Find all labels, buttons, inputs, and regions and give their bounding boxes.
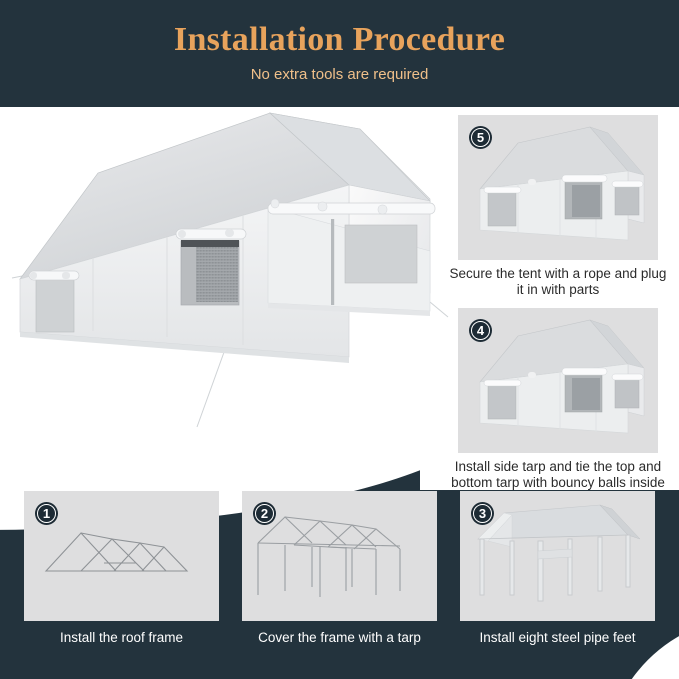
step-2-badge: 2	[253, 502, 276, 525]
step-card-5: 5 Secure the tent with a rope and p	[458, 115, 668, 298]
step-card-4: 4 Install side tarp and tie the top	[458, 308, 668, 491]
page-title: Installation Procedure	[0, 20, 679, 60]
window-left	[29, 271, 79, 332]
step-1-badge: 1	[35, 502, 58, 525]
bay-center-post	[331, 219, 334, 305]
step-card-2: 2	[242, 491, 437, 646]
installation-procedure-infographic: Installation Procedure No extra tools ar…	[0, 0, 679, 679]
step-1-caption: Install the roof frame	[24, 630, 219, 646]
step-4-badge: 4	[469, 319, 492, 342]
page-subtitle: No extra tools are required	[0, 65, 679, 85]
step-card-3: 3 Install eight steel pipe feet	[460, 491, 655, 646]
step-card-1: 1 Install the roof frame	[24, 491, 219, 646]
step-2-image: 2	[242, 491, 437, 621]
step-3-image: 3	[460, 491, 655, 621]
guy-rope-far	[430, 302, 448, 317]
step-5-badge: 5	[469, 126, 492, 149]
step-5-image: 5	[458, 115, 658, 260]
hero-product-image	[0, 107, 452, 467]
step-4-image: 4	[458, 308, 658, 453]
step-3-badge: 3	[471, 502, 494, 525]
step-2-caption: Cover the frame with a tarp	[242, 630, 437, 646]
window-rear	[345, 225, 417, 283]
step-4-caption: Install side tarp and tie the top and bo…	[448, 459, 668, 491]
step-3-caption: Install eight steel pipe feet	[460, 630, 655, 646]
header-band: Installation Procedure No extra tools ar…	[0, 0, 679, 107]
window-center-mesh	[176, 229, 246, 305]
step-1-image: 1	[24, 491, 219, 621]
step-5-caption: Secure the tent with a rope and plug it …	[448, 266, 668, 298]
